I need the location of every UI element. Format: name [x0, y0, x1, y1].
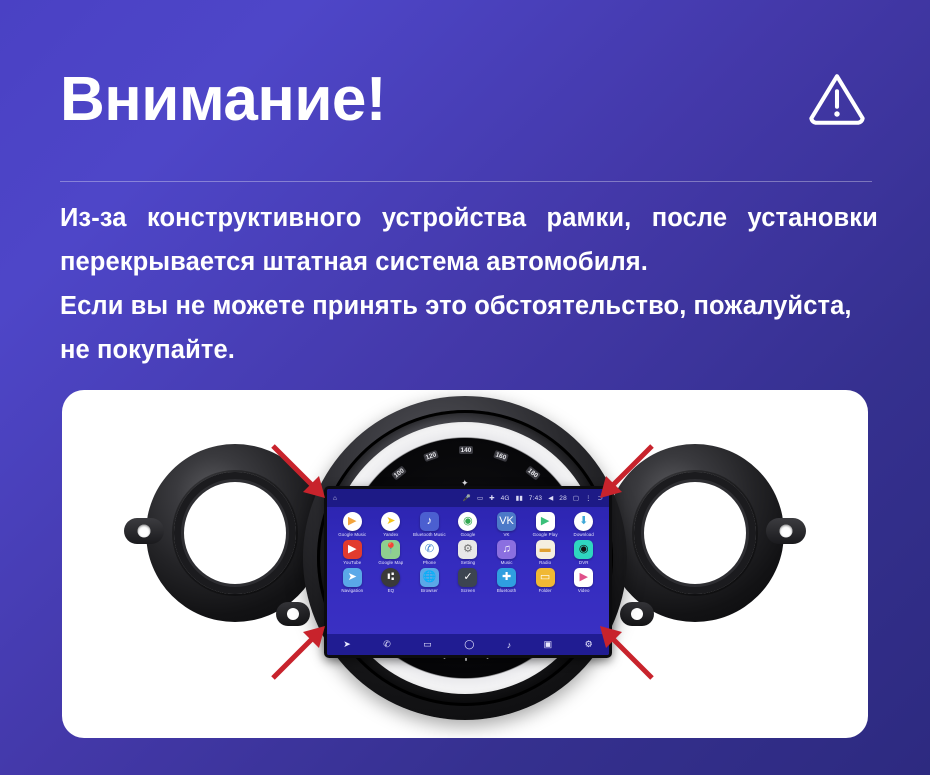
app-yandex[interactable]: ➤Yandex: [373, 512, 410, 537]
bluetooth-music-icon[interactable]: ♪: [420, 512, 439, 531]
app-label: Google: [461, 532, 476, 537]
app-label: Browser: [421, 588, 438, 593]
app-label: Screen: [461, 588, 476, 593]
phone-icon[interactable]: ✆: [420, 540, 439, 559]
app-grid: ▶Google Music➤Yandex♪Bluetooth Music◉Goo…: [327, 507, 609, 593]
dvr-camera-icon[interactable]: ◉: [574, 540, 593, 559]
copy-word: установки: [748, 196, 878, 240]
google-play-icon[interactable]: ▶: [536, 512, 555, 531]
app-label: Music: [501, 560, 513, 565]
app-label: Navigation: [341, 588, 363, 593]
dock-home-icon[interactable]: ◯: [464, 639, 474, 650]
arrow-top-right: [582, 440, 658, 516]
microphone-icon[interactable]: 🎤: [463, 494, 471, 502]
app-bluetooth[interactable]: ✚Bluetooth: [488, 568, 525, 593]
browser-globe-icon[interactable]: 🌐: [420, 568, 439, 587]
page-title: Внимание!: [60, 52, 872, 148]
copy-line-2: перекрывается штатная система автомобиля…: [60, 240, 878, 284]
app-label: Yandex: [383, 532, 398, 537]
folder-icon[interactable]: ▭: [536, 568, 555, 587]
app-phone[interactable]: ✆Phone: [411, 540, 448, 565]
google-chrome-icon[interactable]: ◉: [458, 512, 477, 531]
app-screen-mirror[interactable]: ✓Screen: [450, 568, 487, 593]
volume-level: 28: [559, 495, 567, 502]
app-navigation-arrow[interactable]: ➤Navigation: [334, 568, 371, 593]
dock-phone-icon[interactable]: ✆: [383, 639, 391, 650]
car-radio-fascia-frame: km/h 20406080100120140160180200220240260…: [62, 390, 868, 738]
settings-gear-icon[interactable]: ⚙: [458, 540, 477, 559]
copy-word: устройства: [382, 196, 526, 240]
app-label: Google Map: [378, 560, 403, 565]
app-browser-globe[interactable]: 🌐Browser: [411, 568, 448, 593]
app-label: Bluetooth: [497, 588, 516, 593]
navigation-arrow-icon[interactable]: ➤: [343, 568, 362, 587]
app-equalizer[interactable]: ⑆EQ: [373, 568, 410, 593]
app-label: EQ: [388, 588, 395, 593]
arrow-bottom-right: [582, 608, 658, 684]
signal-bars-icon: ▮▮: [516, 494, 523, 502]
app-bluetooth-music[interactable]: ♪Bluetooth Music: [411, 512, 448, 537]
app-dvr-camera[interactable]: ◉DVR: [565, 540, 602, 565]
bluetooth-icon: ✚: [489, 494, 494, 502]
gauge-number: 180: [525, 466, 541, 481]
gauge-number: 120: [423, 450, 439, 462]
radio-icon[interactable]: ▬: [536, 540, 555, 559]
copy-line-4: не покупайте.: [60, 328, 878, 372]
app-label: Google Play: [533, 532, 558, 537]
app-radio[interactable]: ▬Radio: [527, 540, 564, 565]
android-head-unit-screen[interactable]: ⌂ 🎤 ▭ ✚ 4G ▮▮ 7:43 ◀ 28 ▢ ⋮ ⊃ ▶Google Mu: [324, 486, 612, 658]
recent-apps-icon[interactable]: ▢: [573, 494, 579, 502]
dock-music-icon[interactable]: ♪: [507, 640, 512, 650]
network-label: 4G: [501, 495, 510, 502]
app-label: Google Music: [338, 532, 366, 537]
copy-word: после: [652, 196, 727, 240]
copy-word: Из-за: [60, 196, 127, 240]
app-settings-gear[interactable]: ⚙Setting: [450, 540, 487, 565]
copy-word: рамки,: [547, 196, 632, 240]
warning-triangle-icon: [806, 68, 868, 130]
yandex-icon[interactable]: ➤: [381, 512, 400, 531]
app-label: Bluetooth Music: [413, 532, 446, 537]
copy-word: конструктивного: [147, 196, 361, 240]
app-label: DVR: [579, 560, 589, 565]
divider: [60, 181, 872, 182]
app-music-note[interactable]: ♫Music: [488, 540, 525, 565]
screen-mirror-icon[interactable]: ✓: [458, 568, 477, 587]
google-maps-icon[interactable]: 📍: [381, 540, 400, 559]
status-bar: ⌂ 🎤 ▭ ✚ 4G ▮▮ 7:43 ◀ 28 ▢ ⋮ ⊃: [327, 489, 609, 507]
status-time: 7:43: [529, 495, 542, 502]
mount-tab-left: [124, 518, 164, 544]
app-label: Download: [574, 532, 594, 537]
app-label: YouTube: [343, 560, 361, 565]
app-google-maps[interactable]: 📍Google Map: [373, 540, 410, 565]
app-label: Video: [578, 588, 590, 593]
copy-line-1: Из-за конструктивного устройства рамки, …: [60, 196, 878, 240]
app-label: VK: [504, 532, 510, 537]
app-label: Radio: [539, 560, 551, 565]
app-vk[interactable]: VKVK: [488, 512, 525, 537]
header: Внимание!: [60, 52, 872, 148]
product-photo-card: km/h 20406080100120140160180200220240260…: [62, 390, 868, 738]
arrow-top-left: [267, 440, 343, 516]
app-label: Folder: [539, 588, 552, 593]
gauge-number: 140: [459, 446, 473, 454]
volume-icon: ◀: [548, 494, 553, 502]
dock-apps-icon[interactable]: ▣: [544, 639, 553, 650]
video-play-icon[interactable]: ▶: [574, 568, 593, 587]
app-google-chrome[interactable]: ◉Google: [450, 512, 487, 537]
dock-navigation-icon[interactable]: ➤: [343, 639, 351, 650]
app-folder[interactable]: ▭Folder: [527, 568, 564, 593]
app-label: Setting: [461, 560, 475, 565]
app-youtube[interactable]: ▶YouTube: [334, 540, 371, 565]
music-note-icon[interactable]: ♫: [497, 540, 516, 559]
equalizer-icon[interactable]: ⑆: [381, 568, 400, 587]
copy-line-3: Если вы не можете принять это обстоятель…: [60, 284, 878, 328]
google-music-icon[interactable]: ▶: [343, 512, 362, 531]
gauge-number: 160: [494, 450, 510, 462]
app-google-play[interactable]: ▶Google Play: [527, 512, 564, 537]
arrow-bottom-left: [267, 608, 343, 684]
app-video-play[interactable]: ▶Video: [565, 568, 602, 593]
gauge-number: 100: [391, 466, 407, 481]
bluetooth-icon[interactable]: ✚: [497, 568, 516, 587]
dock-video-icon[interactable]: ▭: [423, 639, 432, 650]
mount-tab-right: [766, 518, 806, 544]
app-label: Phone: [423, 560, 436, 565]
battery-icon: ▭: [477, 494, 483, 502]
body-copy: Из-за конструктивного устройства рамки, …: [60, 196, 878, 372]
bottom-dock: ➤✆▭◯♪▣⚙: [327, 634, 609, 655]
youtube-icon[interactable]: ▶: [343, 540, 362, 559]
vk-icon[interactable]: VK: [497, 512, 516, 531]
